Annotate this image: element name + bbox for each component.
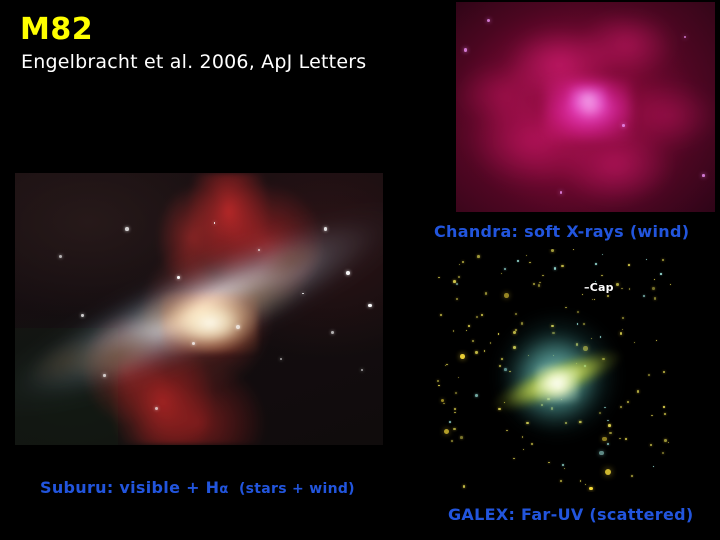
galex-image: –Cap <box>434 249 676 492</box>
subaru-foreground-stars <box>15 173 383 445</box>
subaru-caption-note: (stars + wind) <box>239 481 355 497</box>
subaru-caption-suffix <box>229 481 239 497</box>
galex-cap-annotation: –Cap <box>584 281 614 294</box>
chandra-point-sources <box>456 2 715 212</box>
subaru-caption: Suburu: visible + Hα (stars + wind) <box>40 478 355 497</box>
galex-caption: GALEX: Far-UV (scattered) <box>448 505 693 524</box>
subaru-caption-prefix: Suburu: visible + H <box>40 478 219 497</box>
halpha-alpha-symbol: α <box>219 482 228 497</box>
title-block: M82 Engelbracht et al. 2006, ApJ Letters <box>20 14 440 74</box>
page-title: M82 <box>20 14 440 46</box>
chandra-image <box>456 2 715 212</box>
chandra-caption: Chandra: soft X-rays (wind) <box>434 222 689 241</box>
page-subtitle: Engelbracht et al. 2006, ApJ Letters <box>21 50 440 74</box>
subaru-image <box>15 173 383 445</box>
galex-nucleus <box>536 366 580 402</box>
